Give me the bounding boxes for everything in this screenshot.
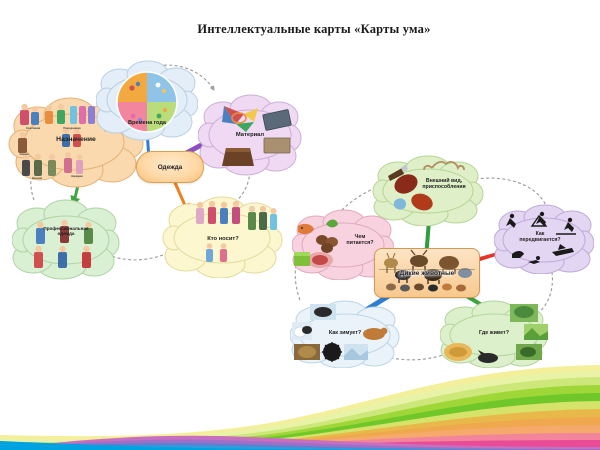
cloud-shape-kak-peredvigaetsya bbox=[494, 204, 594, 274]
node-vremena-goda[interactable]: Времена года bbox=[96, 58, 198, 142]
sublabel-naryadnaya: Нарядная bbox=[63, 175, 91, 178]
node-material[interactable]: Материал bbox=[198, 92, 302, 176]
cloud-shape-prof-odezhda bbox=[12, 198, 120, 280]
node-kak-zimuet[interactable]: Как зимует? bbox=[290, 300, 400, 368]
page-title: Интеллектуальные карты «Карты ума» bbox=[0, 22, 600, 37]
cloud-shape-material bbox=[198, 92, 302, 176]
sublabel-voennaya: Военная bbox=[23, 177, 51, 180]
cloud-shape-vremena-goda bbox=[96, 58, 198, 142]
node-kak-peredvigaetsya[interactable]: Как передвигается? bbox=[494, 204, 594, 274]
node-label-odezhda: Одежда bbox=[158, 164, 182, 171]
cloud-shape-kto-nosit bbox=[162, 194, 284, 278]
sublabel-zimnyaya: Зимняя bbox=[11, 153, 37, 156]
node-professionalnaya-odezhda[interactable]: Профессиональная одежда bbox=[12, 198, 120, 280]
cloud-shape-gde-zhivet bbox=[440, 300, 548, 368]
node-label-dikie-zhivotnye: Дикие животные bbox=[400, 270, 455, 277]
node-odezhda-center[interactable]: Одежда bbox=[136, 151, 204, 183]
node-dikie-zhivotnye-center[interactable]: Дикие животные bbox=[374, 248, 480, 298]
sublabel-sportivnaya: Спортивная bbox=[17, 127, 48, 130]
node-kto-nosit[interactable]: Кто носит? bbox=[162, 194, 284, 278]
sublabel-povsednevnaya: Повседневная bbox=[54, 127, 91, 130]
cloud-shape-kak-zimuet bbox=[290, 300, 400, 368]
slide-canvas: Интеллектуальные карты «Карты ума» bbox=[0, 0, 600, 450]
node-gde-zhivet[interactable]: Где живет? bbox=[440, 300, 548, 368]
